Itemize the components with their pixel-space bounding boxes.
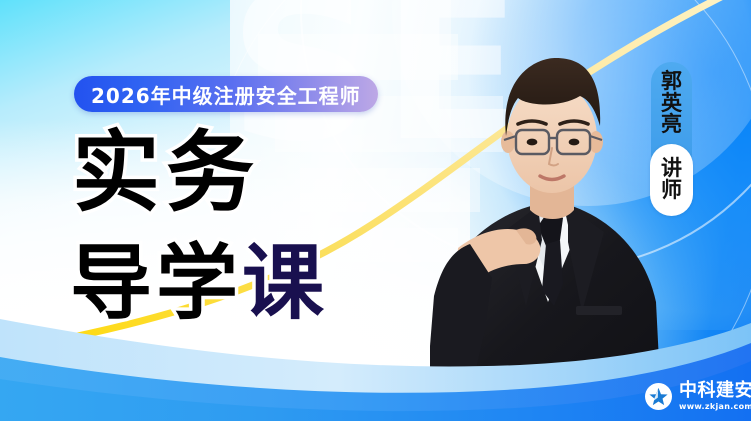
brand-logo-text: 中科建安 www.zkjan.com [679, 382, 751, 411]
title-line-2: 导学课 [70, 243, 328, 325]
brand-logo: 中科建安 www.zkjan.com [641, 379, 751, 414]
instructor-name-char-2: 英 [661, 93, 682, 115]
title-line-2-main: 导学 [70, 236, 242, 331]
star-arrow-icon [647, 385, 670, 408]
course-banner: CSE [0, 0, 751, 421]
title-line-2-accent: 课 [242, 236, 328, 331]
brand-name: 中科建安 [679, 382, 751, 400]
instructor-role-pill: 讲 师 [650, 144, 693, 216]
instructor-role-char-1: 讲 [661, 158, 682, 180]
brand-logo-icon [645, 383, 672, 410]
brand-url: www.zkjan.com [679, 403, 751, 411]
instructor-name-char-3: 亮 [661, 114, 682, 136]
course-badge-label: 2026年中级注册安全工程师 [91, 80, 361, 109]
decor-block-1 [258, 34, 458, 80]
title-line-1: 实务 [72, 129, 260, 217]
instructor-name-char-1: 郭 [661, 71, 682, 93]
course-badge: 2026年中级注册安全工程师 [74, 76, 378, 112]
instructor-role-char-2: 师 [661, 180, 682, 202]
